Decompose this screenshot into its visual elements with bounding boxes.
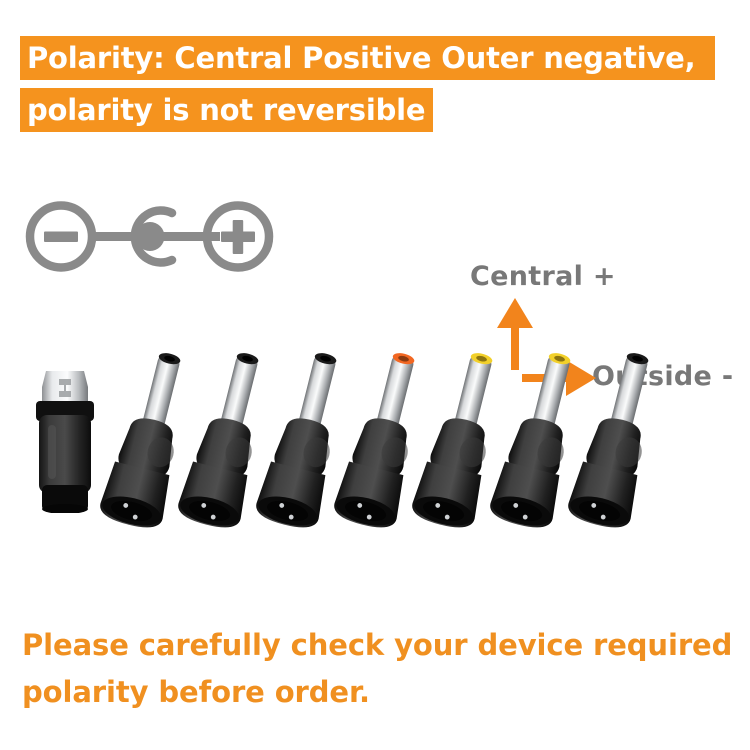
callout-central-positive: Central + xyxy=(470,261,616,292)
headline-line-2: polarity is not reversible xyxy=(20,88,433,132)
connector-row xyxy=(0,340,750,550)
footer-line-2: polarity before order. xyxy=(22,669,722,716)
footer-line-1: Please carefully check your device requi… xyxy=(22,622,722,669)
footer-note: Please carefully check your device requi… xyxy=(22,622,722,716)
micro-usb-head xyxy=(42,371,88,403)
infographic-canvas: Polarity: Central Positive Outer negativ… xyxy=(0,0,750,750)
minus-circle-icon xyxy=(30,206,92,268)
polarity-symbol-diagram xyxy=(24,196,274,280)
connector-micro-usb[interactable] xyxy=(26,363,104,518)
connector-dc-barrel[interactable] xyxy=(566,343,684,538)
headline-block: Polarity: Central Positive Outer negativ… xyxy=(20,36,732,132)
micro-usb-body xyxy=(36,401,94,513)
headline-line-1: Polarity: Central Positive Outer negativ… xyxy=(20,36,715,80)
